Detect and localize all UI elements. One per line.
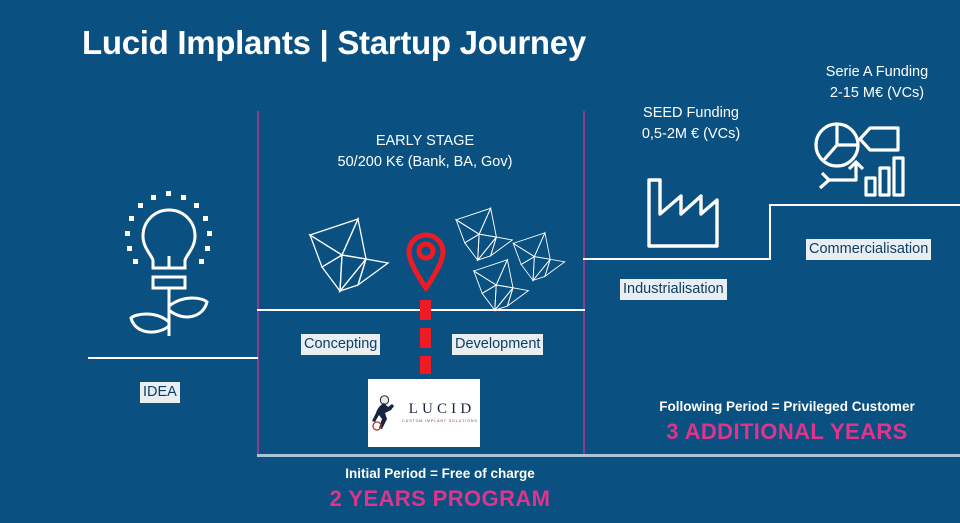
stage-divider-left (257, 111, 259, 455)
baseline-rule (257, 454, 960, 457)
funding-serie-a-amount: 2-15 M€ (VCs) (794, 83, 960, 104)
stage-label-commercialisation[interactable]: Commercialisation (806, 239, 931, 260)
logo-tagline: CUSTOM IMPLANT SOLUTIONS (402, 420, 477, 424)
map-pin-marker-icon[interactable] (404, 230, 448, 292)
funding-early-amount: 50/200 K€ (Bank, BA, Gov) (300, 152, 550, 173)
step-line-idea (88, 357, 258, 359)
lightbulb-plant-icon (113, 176, 225, 336)
funding-seed: SEED Funding 0,5-2M € (VCs) (608, 103, 774, 145)
phase-label-concepting[interactable]: Concepting (301, 334, 380, 355)
step-line-commercialisation (769, 204, 960, 206)
slide-canvas: Lucid Implants | Startup Journey (0, 0, 960, 523)
initial-period-block: Initial Period = Free of charge 2 YEARS … (285, 464, 595, 514)
funding-early-title: EARLY STAGE (376, 133, 474, 149)
marker-trail-dash-1 (420, 300, 431, 320)
running-figure-icon (370, 395, 398, 431)
lucid-logo-card[interactable]: LUCID CUSTOM IMPLANT SOLUTIONS (368, 379, 480, 447)
analytics-chart-icon (812, 122, 904, 198)
logo-wordmark: LUCID (405, 402, 476, 417)
funding-early-stage: EARLY STAGE 50/200 K€ (Bank, BA, Gov) (300, 131, 550, 173)
funding-seed-amount: 0,5-2M € (VCs) (608, 124, 774, 145)
stage-label-idea[interactable]: IDEA (140, 382, 180, 403)
following-period-note: Following Period = Privileged Customer (627, 397, 947, 417)
phase-label-development[interactable]: Development (452, 334, 543, 355)
step-line-industrialisation (583, 258, 771, 260)
stage-label-industrialisation[interactable]: Industrialisation (620, 279, 727, 300)
step-riser-commercialisation (769, 204, 771, 260)
following-period-headline: 3 ADDITIONAL YEARS (627, 417, 947, 447)
funding-seed-title: SEED Funding (643, 105, 739, 121)
initial-period-note: Initial Period = Free of charge (285, 464, 595, 484)
marker-trail-dash-2 (420, 328, 431, 348)
factory-icon (643, 176, 723, 248)
funding-serie-a-title: Serie A Funding (826, 64, 928, 80)
stage-divider-right (583, 111, 585, 455)
initial-period-headline: 2 YEARS PROGRAM (285, 484, 595, 514)
following-period-block: Following Period = Privileged Customer 3… (627, 397, 947, 447)
funding-serie-a: Serie A Funding 2-15 M€ (VCs) (794, 62, 960, 104)
marker-trail-dash-3 (420, 356, 431, 374)
page-title: Lucid Implants | Startup Journey (82, 24, 586, 62)
